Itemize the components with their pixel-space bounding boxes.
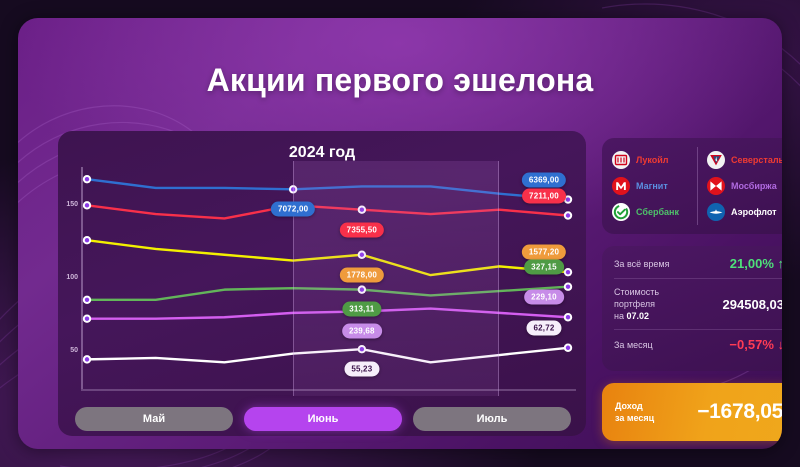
series-point-marker [83, 236, 91, 244]
data-point-label: 1577,20 [522, 245, 566, 260]
series-point-marker [564, 313, 572, 321]
all-time-label: За всё время [614, 258, 669, 270]
page-title: Акции первого эшелона [18, 62, 782, 99]
data-point-label: 62,72 [526, 320, 561, 335]
stat-row-portfolio-value: Стоимость портфеля на 07.02 294508,03 [614, 286, 782, 322]
y-axis-tick-label: 50 [58, 347, 78, 354]
income-label-line2: за месяц [615, 412, 654, 424]
month-tab-3[interactable]: Июль [413, 407, 571, 431]
monthly-income-panel: Доход за месяц −1678,05 [602, 383, 782, 441]
legend-item-мосбиржа[interactable]: Мосбиржа [707, 177, 782, 195]
y-axis-tick-label: 150 [58, 201, 78, 208]
legend-item-label: Магнит [636, 181, 668, 191]
data-point-label: 7355,50 [340, 222, 384, 237]
stats-divider-1 [614, 278, 782, 279]
legend-item-label: Лукойл [636, 155, 668, 165]
chart-title: 2024 год [58, 144, 586, 162]
legend-item-label: Северсталь [731, 155, 782, 165]
y-axis-line [81, 167, 83, 389]
portfolio-date: 07.02 [626, 311, 649, 321]
month-tab-label: Июль [477, 413, 508, 425]
legend-column-left: ЛукойлМагнитСбербанк [612, 147, 698, 225]
portfolio-stats-panel: За всё время 21,00% ↑ Стоимость портфеля… [602, 246, 782, 371]
line-chart-plot-area [58, 161, 586, 396]
legend-item-аэрофлот[interactable]: Аэрофлот [707, 203, 782, 221]
data-point-label: 239,68 [342, 324, 382, 339]
series-point-marker [83, 314, 91, 322]
all-time-value: 21,00% ↑ [730, 256, 782, 271]
legend-item-лукойл[interactable]: Лукойл [612, 151, 691, 169]
y-axis-tick-label: 100 [58, 274, 78, 281]
aeroflot-logo-icon [707, 203, 725, 221]
series-point-marker [83, 175, 91, 183]
month-tab-2[interactable]: Июнь [244, 407, 402, 431]
portfolio-label-line2: портфеля [614, 298, 659, 310]
data-point-label: 7072,00 [271, 202, 315, 217]
lukoil-logo-icon [612, 151, 630, 169]
income-value: −1678,05 [654, 400, 782, 424]
portfolio-label-line3: на 07.02 [614, 310, 659, 322]
all-time-percent: 21,00% [730, 256, 774, 271]
data-point-label: 1778,00 [340, 267, 384, 282]
x-axis-line [81, 389, 576, 391]
income-label-line1: Доход [615, 400, 654, 412]
series-point-marker [564, 283, 572, 291]
data-point-label: 327,15 [524, 259, 564, 274]
stat-row-all-time: За всё время 21,00% ↑ [614, 256, 782, 271]
portfolio-label-line1: Стоимость [614, 286, 659, 298]
company-legend-panel: ЛукойлМагнитСбербанк СеверстальМосбиржаА… [602, 138, 782, 234]
arrow-down-icon: ↓ [778, 337, 783, 352]
severstal-logo-icon [707, 151, 725, 169]
legend-item-магнит[interactable]: Магнит [612, 177, 691, 195]
series-point-marker [564, 344, 572, 352]
main-card: Акции первого эшелона 2024 год 150100507… [18, 18, 782, 449]
month-percent: −0,57% [729, 337, 773, 352]
stats-divider-2 [614, 329, 782, 330]
data-point-label: 55,23 [344, 362, 379, 377]
highlighted-month-band [293, 161, 499, 396]
magnit-logo-icon [612, 177, 630, 195]
series-point-marker [83, 296, 91, 304]
month-tab-label: Июнь [308, 413, 339, 425]
legend-item-северсталь[interactable]: Северсталь [707, 151, 782, 169]
month-tab-1[interactable]: Май [75, 407, 233, 431]
data-point-label: 7211,00 [522, 188, 566, 203]
legend-item-label: Сбербанк [636, 207, 679, 217]
stat-row-month: За месяц −0,57% ↓ [614, 337, 782, 352]
series-point-marker [83, 201, 91, 209]
series-point-marker [83, 355, 91, 363]
poster-root: Акции первого эшелона 2024 год 150100507… [0, 0, 800, 467]
month-tab-label: Май [143, 413, 165, 425]
portfolio-value: 294508,03 [723, 297, 782, 312]
arrow-up-icon: ↑ [778, 256, 783, 271]
sberbank-logo-icon [612, 203, 630, 221]
moex-logo-icon [707, 177, 725, 195]
month-value: −0,57% ↓ [729, 337, 782, 352]
legend-column-right: СеверстальМосбиржаАэрофлот [698, 147, 782, 225]
series-point-marker [564, 268, 572, 276]
month-tab-group[interactable]: МайИюньИюль [75, 407, 571, 431]
month-label: За месяц [614, 339, 653, 351]
legend-item-сбербанк[interactable]: Сбербанк [612, 203, 691, 221]
data-point-label: 6369,00 [522, 172, 566, 187]
legend-item-label: Аэрофлот [731, 207, 777, 217]
series-point-marker [564, 211, 572, 219]
portfolio-value-label: Стоимость портфеля на 07.02 [614, 286, 659, 322]
data-point-label: 313,11 [342, 301, 381, 316]
data-point-label: 229,10 [524, 290, 564, 305]
income-label: Доход за месяц [615, 400, 654, 424]
chart-panel: 2024 год 150100507072,006369,007355,5072… [58, 131, 586, 436]
legend-item-label: Мосбиржа [731, 181, 777, 191]
